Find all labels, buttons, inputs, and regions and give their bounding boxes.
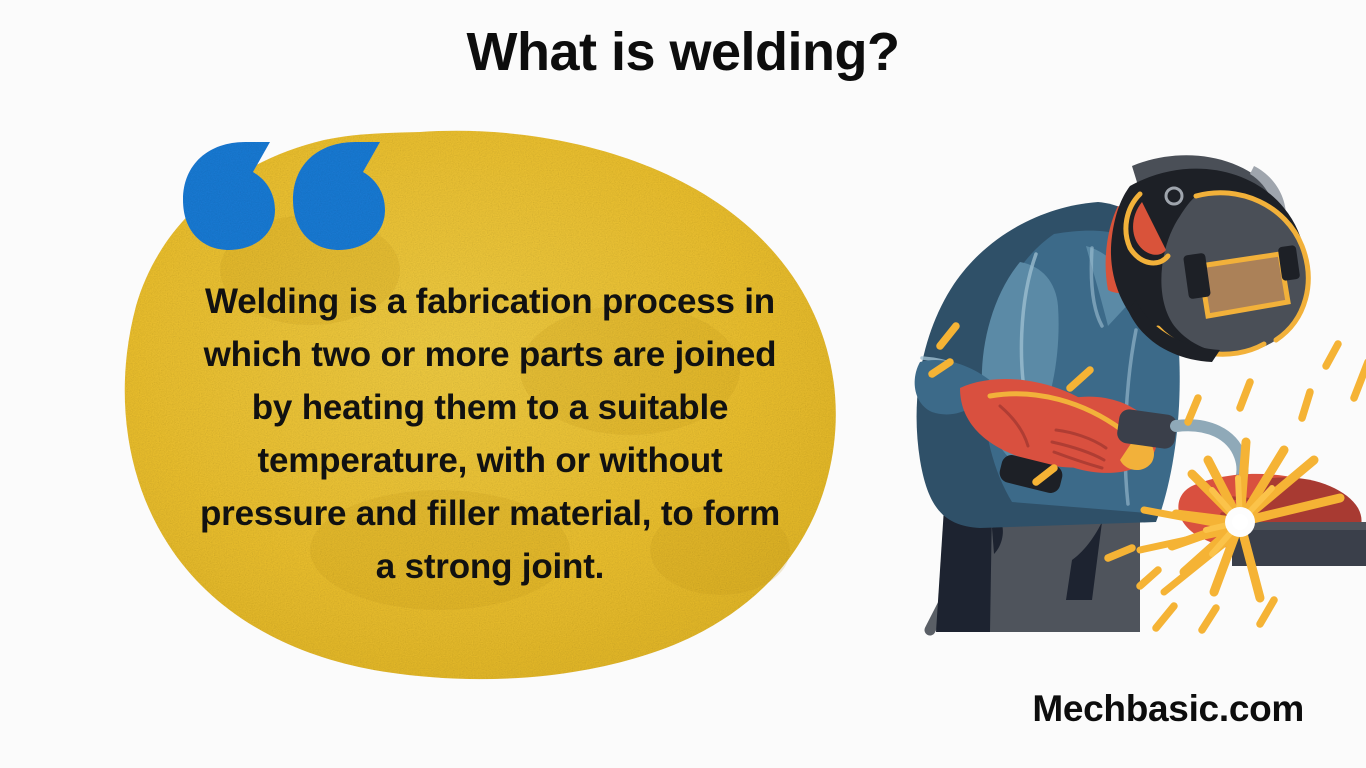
quote-text: Welding is a fabrication process in whic… (130, 275, 850, 593)
quote-card: Welding is a fabrication process in whic… (110, 120, 870, 690)
poster-canvas: What is welding? (0, 0, 1366, 768)
welder-illustration (840, 130, 1366, 660)
brand-watermark: Mechbasic.com (1032, 688, 1304, 730)
quote-mark-icon (175, 138, 390, 253)
page-title: What is welding? (0, 24, 1366, 81)
